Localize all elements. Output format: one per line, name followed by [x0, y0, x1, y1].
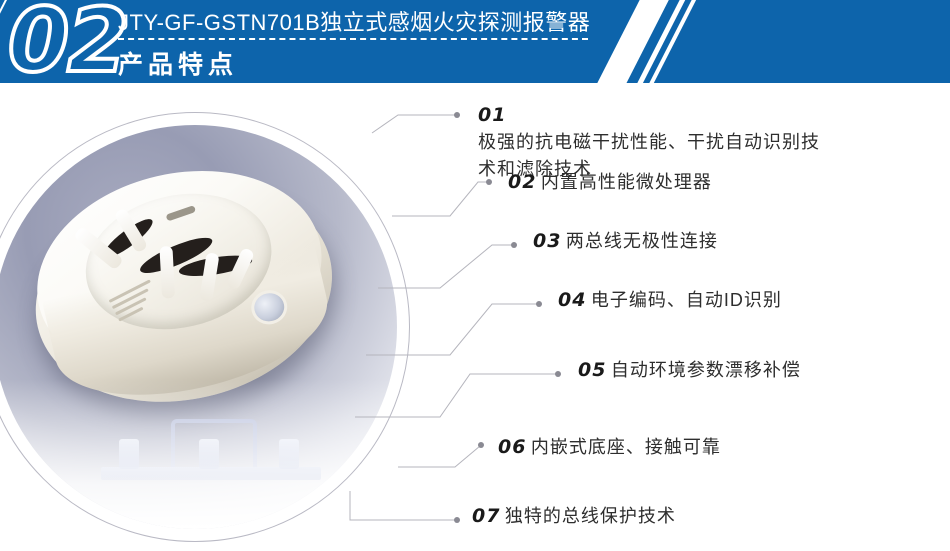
product-title: JTY-GF-GSTN701B独立式感烟火灾探测报警器 [118, 5, 590, 37]
connector-dot-07 [454, 517, 460, 523]
feature-list: 01 极强的抗电磁干扰性能、干扰自动识别技 术和滤除技术 02 内置高性能微处理… [0, 83, 950, 551]
connector-line-03 [378, 245, 512, 288]
connector-dot-03 [511, 242, 517, 248]
infographic-page: 02 JTY-GF-GSTN701B独立式感烟火灾探测报警器 产品特点 [0, 0, 950, 551]
feature-number: 01 [478, 104, 506, 126]
feature-item-06: 06 内嵌式底座、接触可靠 [498, 434, 928, 461]
feature-text-line: 极强的抗电磁干扰性能、干扰自动识别技 [478, 129, 928, 156]
connector-line-02 [392, 182, 487, 216]
feature-text-line: 自动环境参数漂移补偿 [611, 360, 801, 380]
feature-text-line: 内嵌式底座、接触可靠 [531, 437, 721, 457]
feature-number: 02 [508, 171, 536, 193]
connector-dot-04 [536, 301, 542, 307]
feature-item-02: 02 内置高性能微处理器 [508, 169, 928, 196]
connector-line-01 [372, 115, 455, 133]
feature-item-07: 07 独特的总线保护技术 [472, 503, 922, 530]
section-number: 02 [8, 0, 126, 83]
feature-number: 04 [558, 289, 586, 311]
feature-item-05: 05 自动环境参数漂移补偿 [578, 357, 948, 384]
connector-dot-06 [478, 442, 484, 448]
connector-dot-05 [555, 371, 561, 377]
section-subtitle: 产品特点 [118, 45, 238, 81]
connector-line-05 [355, 374, 556, 417]
feature-item-03: 03 两总线无极性连接 [533, 228, 933, 255]
feature-number: 07 [472, 505, 500, 527]
feature-text-line: 独特的总线保护技术 [505, 506, 676, 526]
feature-item-04: 04 电子编码、自动ID识别 [558, 287, 948, 314]
header-banner: 02 JTY-GF-GSTN701B独立式感烟火灾探测报警器 产品特点 [0, 0, 950, 83]
feature-text-line: 内置高性能微处理器 [541, 172, 712, 192]
feature-number: 06 [498, 436, 526, 458]
feature-text-line: 两总线无极性连接 [566, 231, 718, 251]
feature-text-line: 电子编码、自动ID识别 [591, 290, 782, 310]
connector-line-06 [398, 446, 480, 467]
feature-number: 03 [533, 230, 561, 252]
connector-dot-01 [454, 112, 460, 118]
feature-number: 05 [578, 359, 606, 381]
connector-line-07 [350, 491, 455, 520]
connector-line-04 [366, 304, 537, 355]
header-dashed-divider [118, 38, 588, 40]
